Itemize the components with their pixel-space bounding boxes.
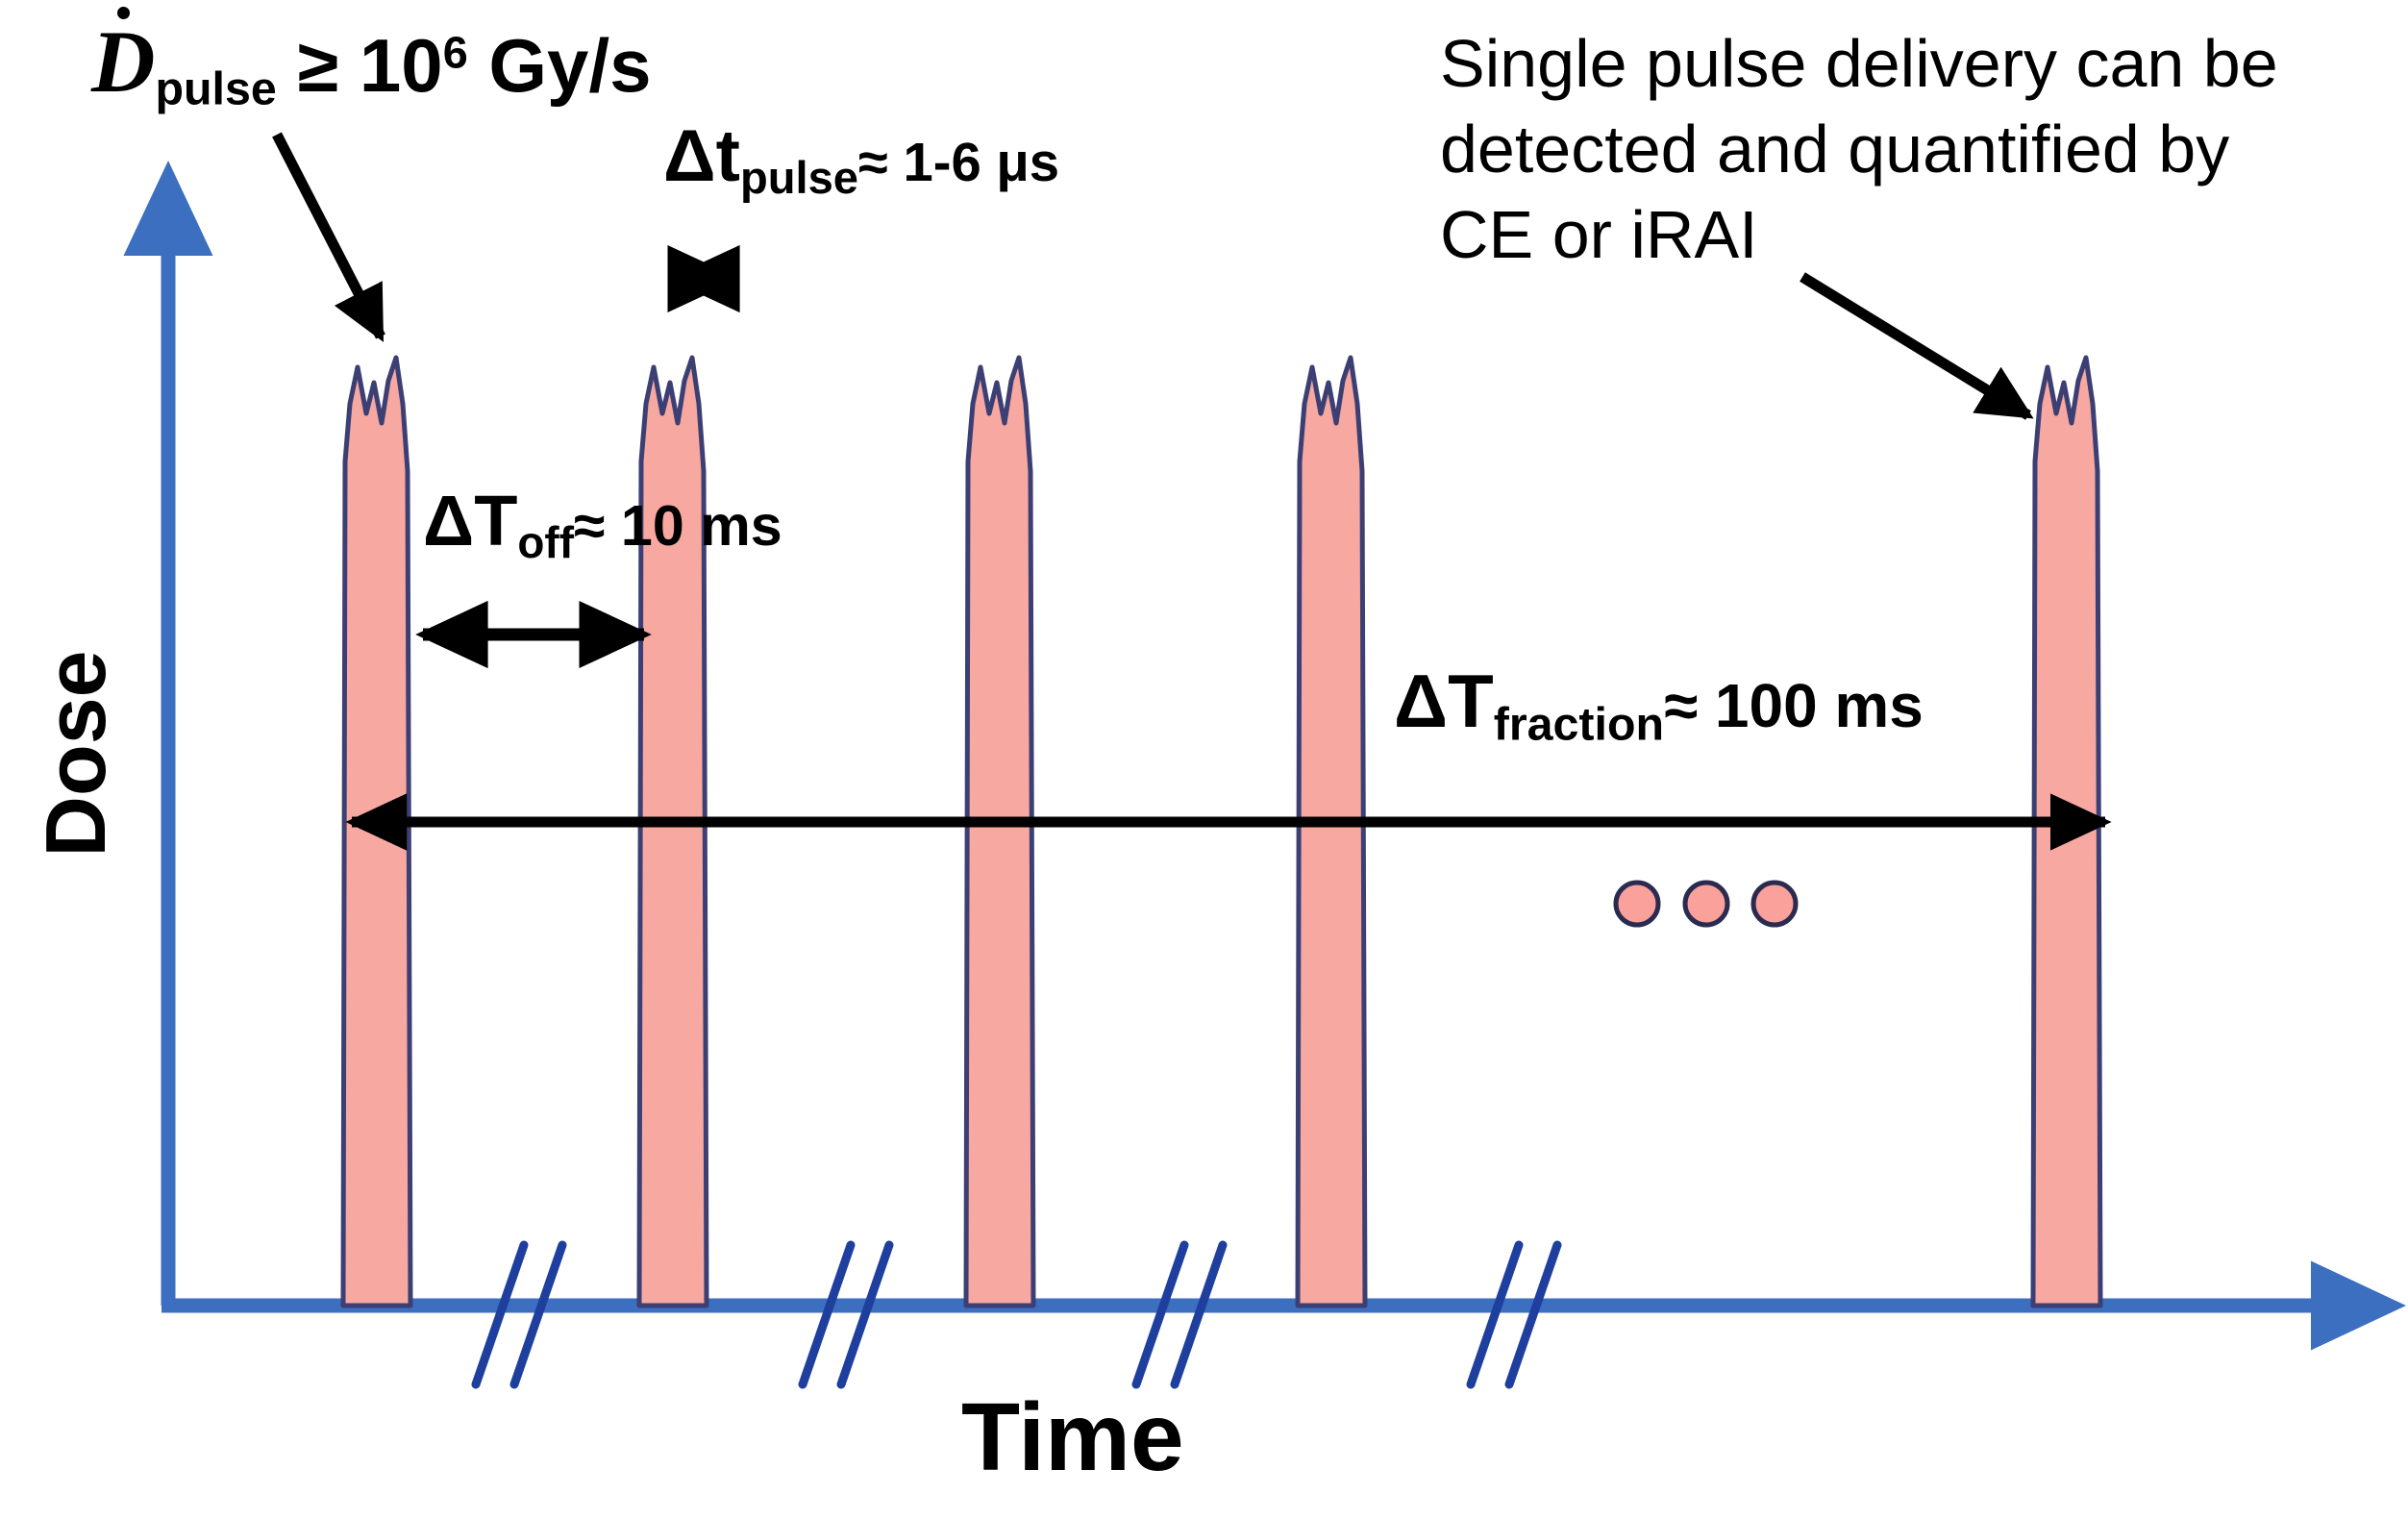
axis-break-1 bbox=[476, 1245, 562, 1384]
y-axis-title: Dose bbox=[34, 595, 118, 912]
dose-rate-exponent: 6 bbox=[443, 28, 468, 78]
dose-rate-units: Gy/s bbox=[488, 23, 651, 108]
note-pointer-arrow bbox=[1802, 277, 2028, 415]
pulse-5 bbox=[2033, 358, 2100, 1306]
fraction-time-annotation: ΔTfraction≈ 100 ms bbox=[1394, 663, 1924, 748]
axis-break-3 bbox=[1136, 1245, 1223, 1384]
fraction-time-subscript: fraction bbox=[1494, 699, 1664, 751]
pulse-width-annotation: Δtpulse≈ 1-6 μs bbox=[663, 120, 1059, 200]
x-axis-title: Time bbox=[961, 1389, 1184, 1485]
dose-rate-subscript: pulse bbox=[155, 63, 276, 115]
axis-break-2 bbox=[803, 1245, 889, 1384]
pulse-width-subscript: pulse bbox=[740, 152, 858, 203]
dose-rate-dot-accent bbox=[117, 7, 130, 19]
dose-rate-relation: ≥ 10 bbox=[297, 23, 442, 108]
dose-rate-annotation: Dpulse ≥ 106 Gy/s bbox=[91, 17, 652, 112]
fraction-time-symbol: ΔT bbox=[1394, 659, 1494, 743]
dose-rate-pointer-arrow bbox=[277, 135, 381, 336]
detection-note-line-2: detected and quantified by bbox=[1440, 107, 2401, 192]
detection-note-line-3: CE or iRAI bbox=[1440, 192, 2401, 278]
pulse-width-symbol: Δt bbox=[663, 115, 740, 197]
dose-rate-symbol: D bbox=[91, 12, 155, 111]
continuation-dots bbox=[1616, 883, 1796, 925]
pulse-4 bbox=[1298, 358, 1365, 1306]
pulse-3 bbox=[966, 358, 1033, 1306]
inter-pulse-subscript: off bbox=[517, 517, 574, 567]
pulse-width-value: ≈ 1-6 μs bbox=[858, 132, 1059, 192]
detection-note-line-1: Single pulse delivery can be bbox=[1440, 21, 2401, 107]
inter-pulse-symbol: ΔT bbox=[423, 481, 517, 560]
axis-break-4 bbox=[1471, 1245, 1557, 1384]
axis-group bbox=[161, 207, 2360, 1306]
pulse-1 bbox=[343, 358, 410, 1306]
inter-pulse-annotation: ΔToff≈ 10 ms bbox=[423, 486, 782, 565]
dot-2 bbox=[1685, 883, 1727, 925]
inter-pulse-value: ≈ 10 ms bbox=[574, 493, 782, 558]
dot-3 bbox=[1753, 883, 1796, 925]
dot-1 bbox=[1616, 883, 1658, 925]
detection-note: Single pulse delivery can be detected an… bbox=[1440, 21, 2401, 278]
fraction-time-value: ≈ 100 ms bbox=[1664, 671, 1924, 740]
flash-pulse-diagram: Dpulse ≥ 106 Gy/s Δtpulse≈ 1-6 μs ΔToff≈… bbox=[0, 0, 2408, 1519]
